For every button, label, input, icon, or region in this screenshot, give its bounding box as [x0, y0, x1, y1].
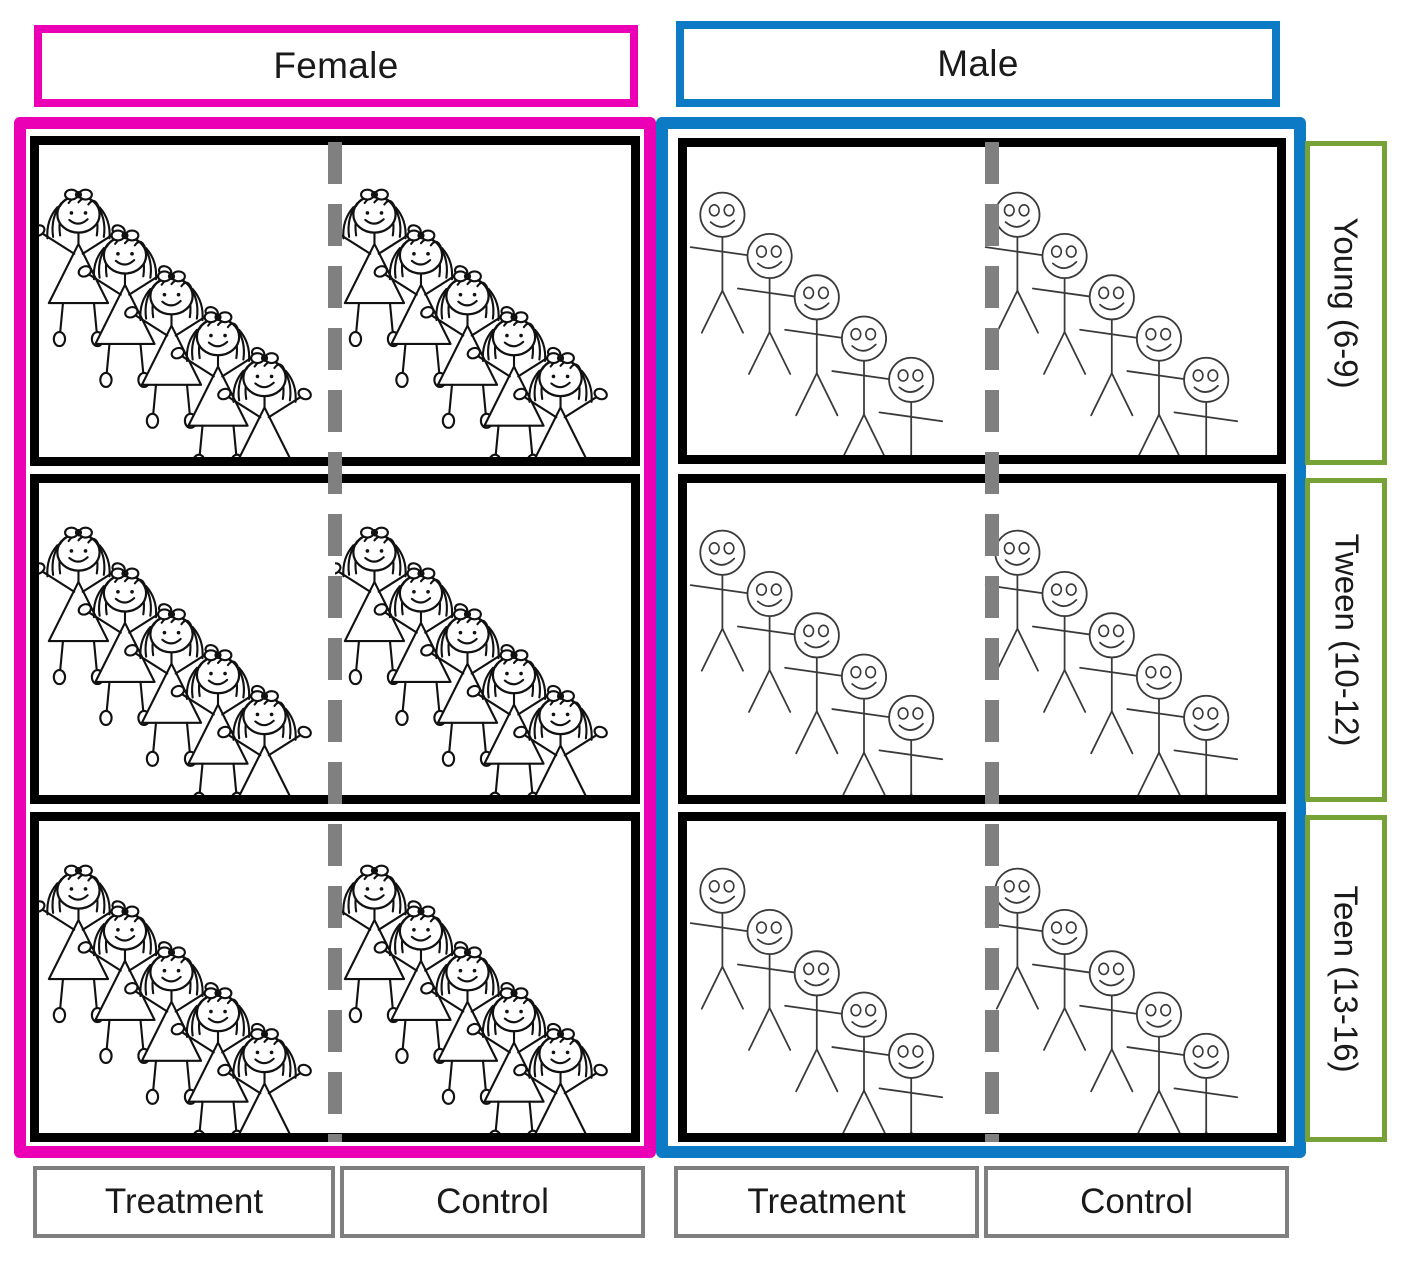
cell-male-tween-control [982, 483, 1277, 795]
age-group-label-teen-text: Teen (13-16) [1327, 885, 1365, 1072]
female-stick-figure-group [335, 821, 631, 1133]
cell-row-teen-male [678, 812, 1286, 1142]
male-stick-figure-group [687, 483, 982, 795]
cell-male-teen-treatment [687, 821, 982, 1133]
cell-female-teen-treatment [39, 821, 335, 1133]
cell-row-young-male [678, 138, 1286, 464]
cell-female-young-treatment [39, 145, 335, 457]
cell-male-young-control [982, 147, 1277, 455]
divider-female-treatment-control [328, 142, 342, 1142]
female-stick-figure-group [39, 483, 335, 795]
condition-label-female-control: Control [340, 1166, 645, 1238]
age-group-label-tween-text: Tween (10-12) [1327, 534, 1365, 747]
divider-male-treatment-control [985, 142, 999, 1142]
condition-label-female-treatment: Treatment [33, 1166, 335, 1238]
cell-female-tween-treatment [39, 483, 335, 795]
male-stick-figure-group [687, 147, 982, 455]
male-stick-figure-group [687, 821, 982, 1133]
female-stick-figure-group [39, 821, 335, 1133]
cell-female-tween-control [335, 483, 631, 795]
female-stick-figure-group [335, 145, 631, 457]
age-group-label-young-text: Young (6-9) [1327, 217, 1365, 388]
condition-label-male-treatment: Treatment [674, 1166, 979, 1238]
male-stick-figure-group [982, 147, 1277, 455]
sex-header-male: Male [676, 21, 1280, 107]
sex-header-female: Female [34, 25, 638, 107]
cell-row-tween-male [678, 474, 1286, 804]
condition-label-male-control: Control [984, 1166, 1289, 1238]
age-group-label-young: Young (6-9) [1305, 141, 1387, 465]
cell-female-teen-control [335, 821, 631, 1133]
male-stick-figure-group [982, 821, 1277, 1133]
study-design-grid: Female Male [0, 0, 1402, 1268]
cell-male-young-treatment [687, 147, 982, 455]
female-stick-figure-group [335, 483, 631, 795]
female-stick-figure-group [39, 145, 335, 457]
male-stick-figure-group [982, 483, 1277, 795]
age-group-label-tween: Tween (10-12) [1305, 478, 1387, 802]
cell-female-young-control [335, 145, 631, 457]
cell-male-teen-control [982, 821, 1277, 1133]
cell-male-tween-treatment [687, 483, 982, 795]
age-group-label-teen: Teen (13-16) [1305, 815, 1387, 1142]
